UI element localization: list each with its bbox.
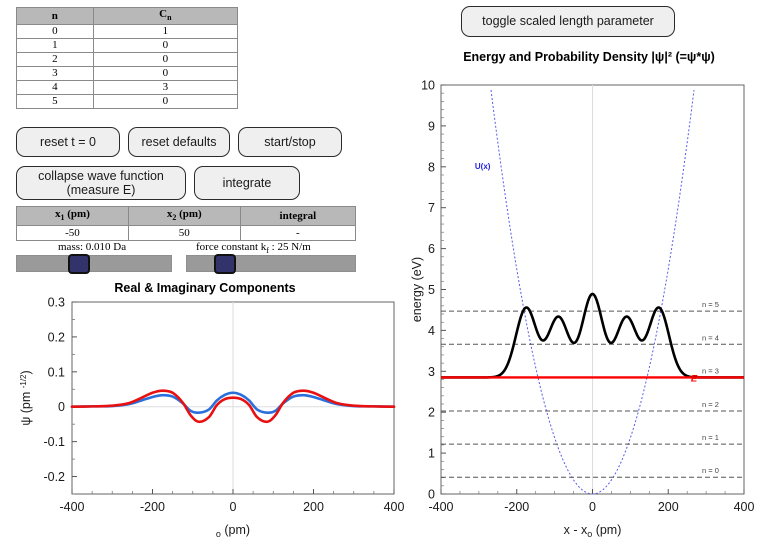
y-tick-label: 1: [428, 447, 435, 461]
y-tick-label: 10: [421, 79, 435, 93]
x-axis-label: x - xo (pm): [564, 523, 622, 539]
x-tick-label: 0: [589, 500, 596, 514]
energy-level-label-n4: n = 4: [702, 333, 719, 342]
y-tick-label: 0.2: [48, 330, 65, 344]
current-energy-label: E: [691, 373, 698, 384]
energy-level-label-n0: n = 0: [702, 466, 719, 475]
y-tick-label: -0.2: [43, 470, 65, 484]
y-axis-label: energy (eV): [410, 257, 424, 322]
energy-level-label-n3: n = 3: [702, 366, 719, 375]
y-tick-label: 2: [428, 406, 435, 420]
y-axis-label: ψ (pm -1/2): [19, 370, 33, 425]
left-panel: n Cn 011020304350 reset t = 0 reset defa…: [0, 0, 410, 545]
y-tick-label: 3: [428, 365, 435, 379]
y-tick-label: 6: [428, 242, 435, 256]
x-tick-label: 200: [303, 500, 324, 514]
x-tick-label: 200: [658, 500, 679, 514]
y-tick-label: 0.1: [48, 365, 65, 379]
potential-label: U(x): [475, 162, 491, 171]
x-tick-label: 400: [734, 500, 755, 514]
x-tick-label: 0: [230, 500, 237, 514]
x-tick-label: -400: [59, 500, 84, 514]
y-tick-label: 4: [428, 324, 435, 338]
y-tick-label: 5: [428, 283, 435, 297]
y-tick-label: 0: [58, 400, 65, 414]
energy-level-label-n2: n = 2: [702, 400, 719, 409]
real-imaginary-chart: -0.2-0.100.10.20.3-400-2000200400x - xo …: [0, 0, 410, 545]
x-tick-label: -200: [140, 500, 165, 514]
energy-level-label-n5: n = 5: [702, 300, 719, 309]
x-tick-label: -400: [428, 500, 453, 514]
right-panel: toggle scaled length parameter Energy an…: [410, 0, 768, 545]
y-tick-label: 9: [428, 119, 435, 133]
x-axis-label: x - xo (pm): [216, 523, 250, 539]
y-tick-label: 8: [428, 160, 435, 174]
y-tick-label: 0.3: [48, 296, 65, 310]
energy-level-label-n1: n = 1: [702, 433, 719, 442]
x-tick-label: 400: [384, 500, 405, 514]
y-tick-label: -0.1: [43, 435, 65, 449]
x-tick-label: -200: [504, 500, 529, 514]
energy-probability-chart: 012345678910-400-2000200400U(x)n = 0n = …: [410, 0, 768, 545]
y-tick-label: 7: [428, 201, 435, 215]
